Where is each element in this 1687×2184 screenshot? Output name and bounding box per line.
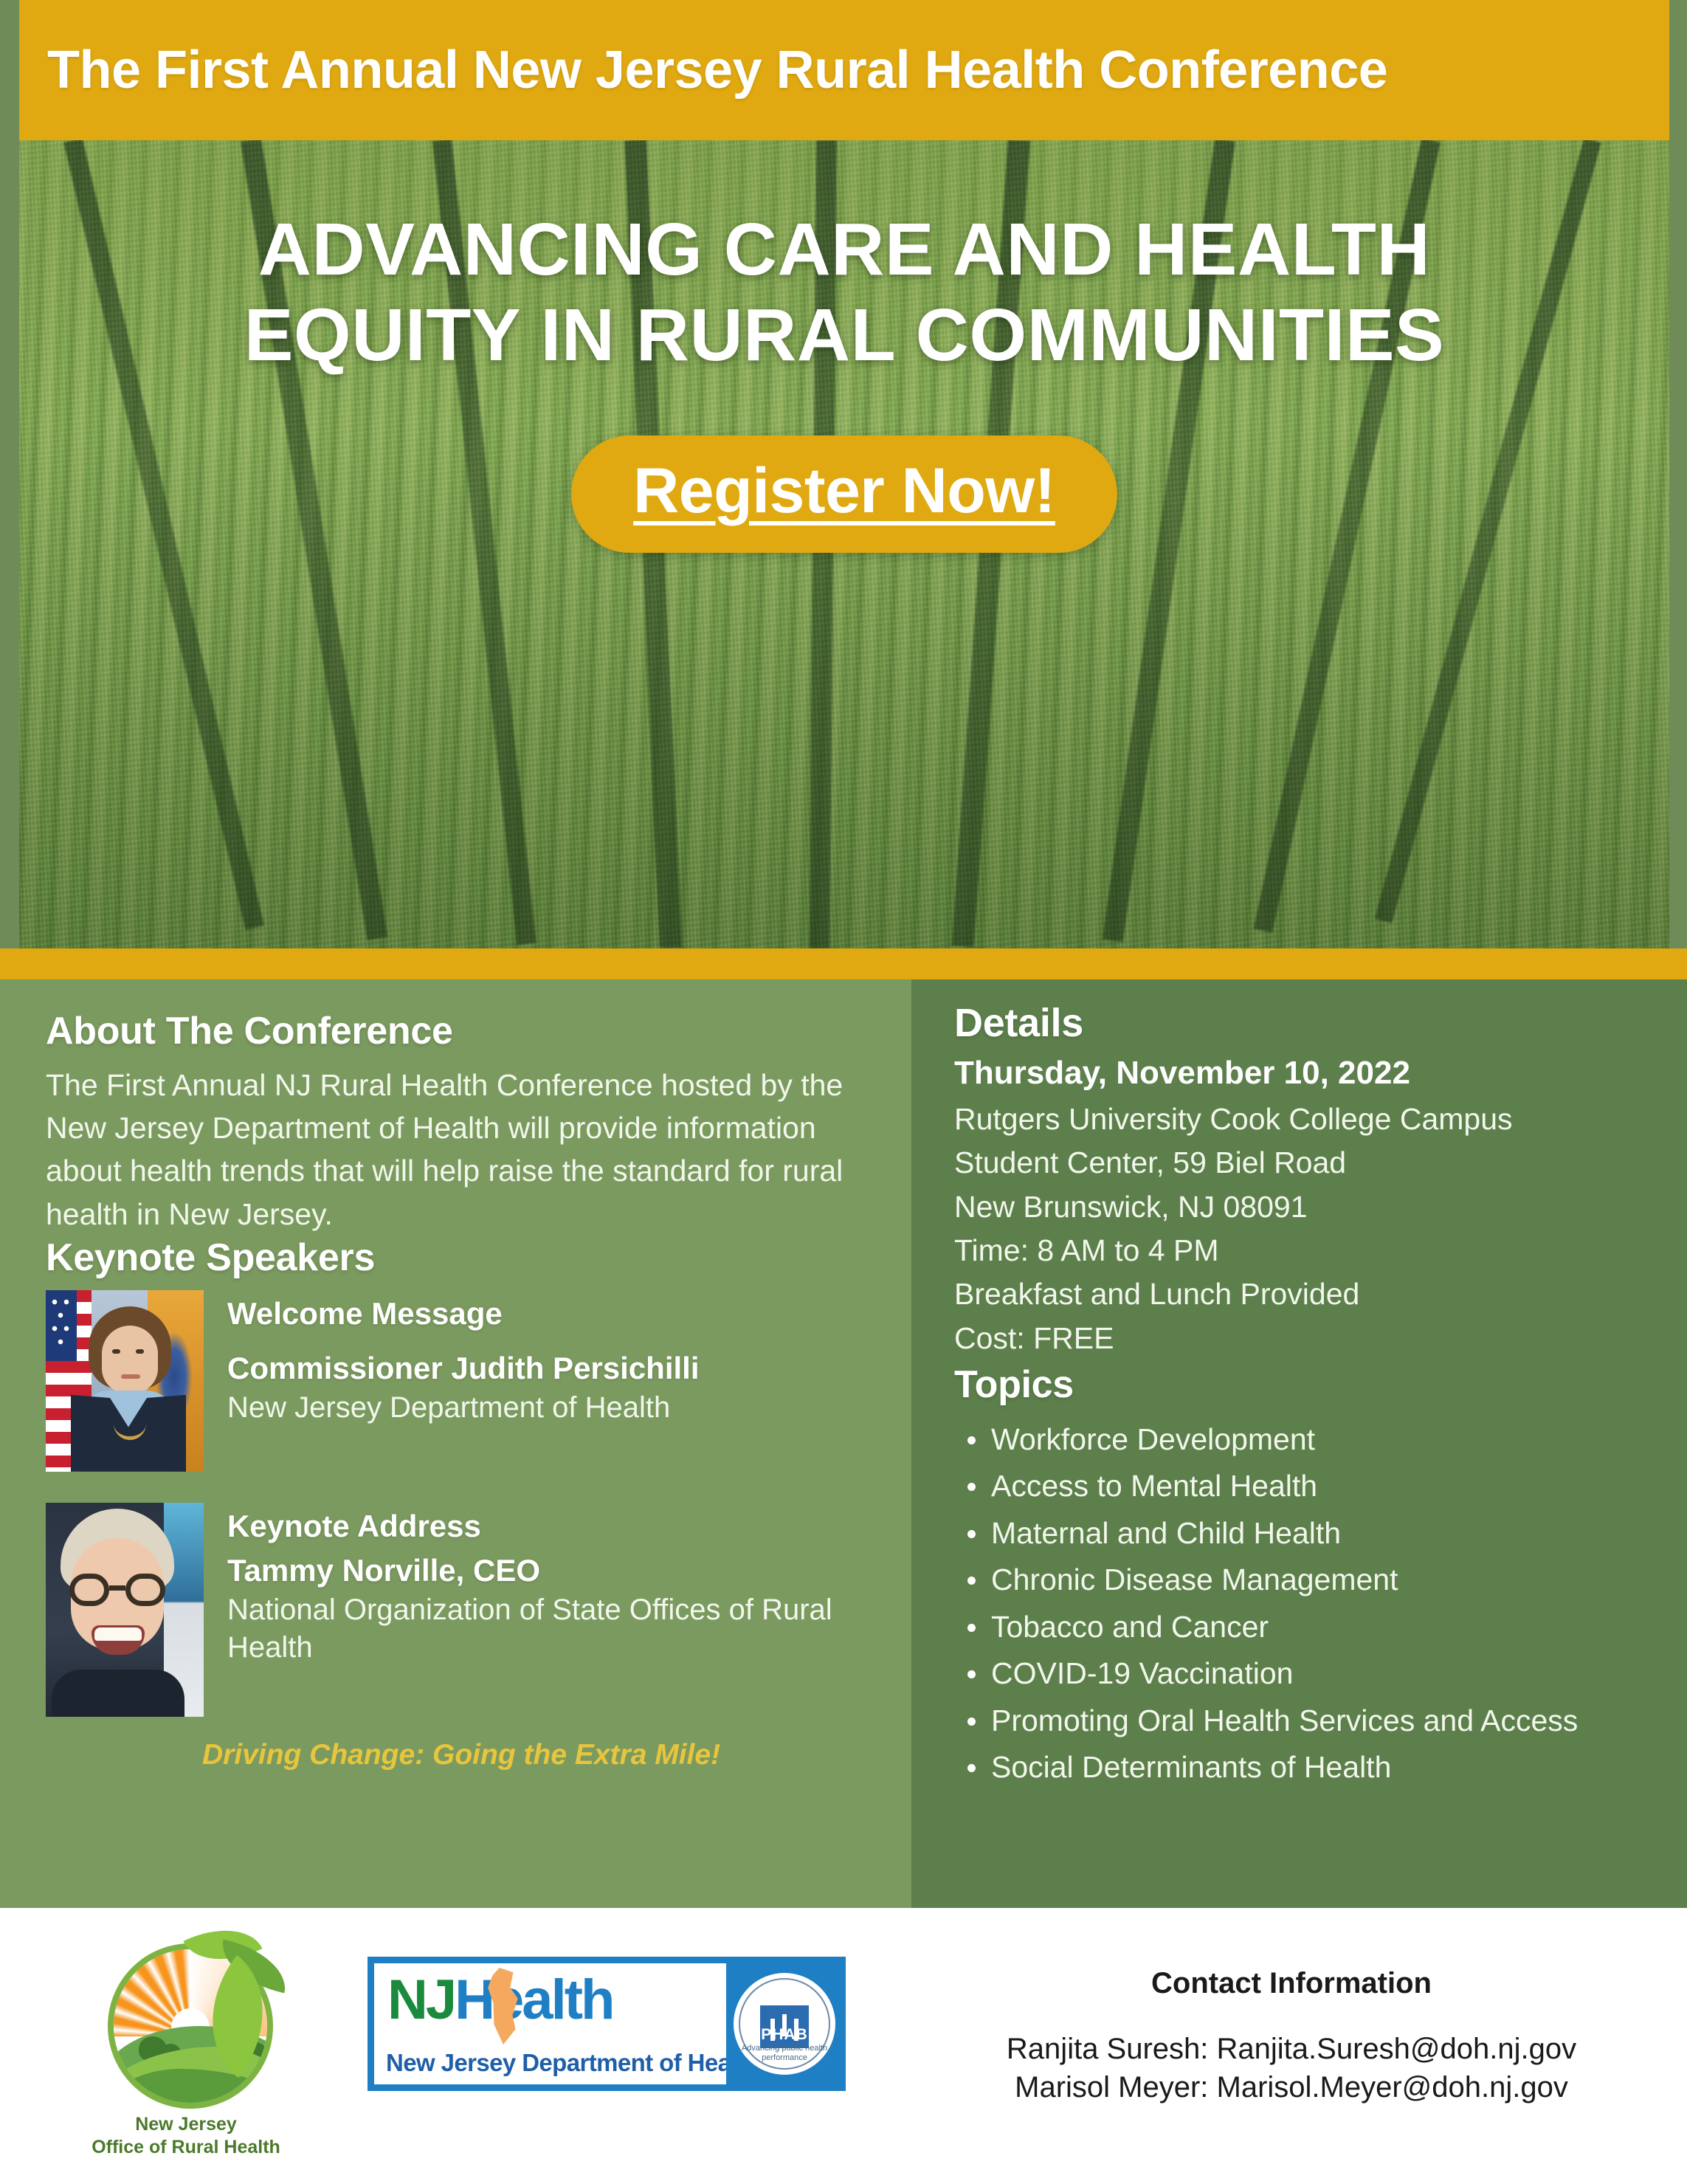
contact-email-ranjita: Ranjita Suresh: Ranjita.Suresh@doh.nj.go…: [922, 2030, 1660, 2068]
about-body-text: The First Annual NJ Rural Health Confere…: [46, 1064, 870, 1236]
keynote-speakers-heading: Keynote Speakers: [46, 1236, 870, 1280]
orh-caption-line-2: Office of Rural Health: [87, 2136, 285, 2159]
details-address: Student Center, 59 Biel Road: [954, 1143, 1657, 1182]
footer: New Jersey Office of Rural Health NJHeal…: [0, 1908, 1687, 2184]
phab-seal-subtext: Advancing public health performance: [734, 2044, 835, 2063]
details-venue: Rutgers University Cook College Campus: [954, 1100, 1657, 1139]
speaker-tagline: Driving Change: Going the Extra Mile!: [202, 1739, 870, 1771]
orh-logo-caption: New Jersey Office of Rural Health: [87, 2113, 285, 2158]
phab-seal-label: PHAB: [734, 2026, 835, 2044]
speaker-role: Keynote Address: [227, 1509, 870, 1544]
nj-office-of-rural-health-logo: New Jersey Office of Rural Health: [87, 1927, 285, 2156]
speaker-card-judith-persichilli: Welcome Message Commissioner Judith Pers…: [46, 1290, 870, 1472]
speaker-name: Tammy Norville, CEO: [227, 1553, 870, 1588]
avatar-judith-persichilli: [46, 1290, 204, 1472]
conference-flyer: The First Annual New Jersey Rural Health…: [0, 0, 1687, 2184]
headline-line-1: ADVANCING CARE AND HEALTH: [88, 207, 1601, 292]
register-button-label: Register Now!: [633, 455, 1055, 526]
details-heading: Details: [954, 1000, 1657, 1046]
contact-email-marisol: Marisol Meyer: Marisol.Meyer@doh.nj.gov: [922, 2068, 1660, 2107]
phab-accreditation-seal-icon: PHAB Advancing public health performance: [734, 1973, 835, 2075]
details-meals: Breakfast and Lunch Provided: [954, 1275, 1657, 1314]
nj-wordmark-health: Health: [455, 1968, 613, 2031]
hero-headline: ADVANCING CARE AND HEALTH EQUITY IN RURA…: [88, 207, 1601, 378]
speaker-card-tammy-norville: Keynote Address Tammy Norville, CEO Nati…: [46, 1503, 870, 1717]
topic-item: COVID-19 Vaccination: [991, 1651, 1657, 1697]
topic-item: Workforce Development: [991, 1417, 1657, 1463]
register-now-button[interactable]: Register Now!: [571, 435, 1117, 553]
about-heading: About The Conference: [46, 1009, 870, 1053]
topic-item: Promoting Oral Health Services and Acces…: [991, 1698, 1657, 1744]
contact-information-block: Contact Information Ranjita Suresh: Ranj…: [922, 1967, 1660, 2107]
glasses-icon: [68, 1574, 167, 1606]
right-content-column: Details Thursday, November 10, 2022 Rutg…: [911, 979, 1687, 1908]
speaker-name: Commissioner Judith Persichilli: [227, 1351, 700, 1386]
details-time: Time: 8 AM to 4 PM: [954, 1231, 1657, 1270]
details-cost: Cost: FREE: [954, 1319, 1657, 1358]
hero-content: ADVANCING CARE AND HEALTH EQUITY IN RURA…: [19, 207, 1669, 553]
speaker-role: Welcome Message: [227, 1296, 700, 1332]
topics-heading: Topics: [954, 1363, 1657, 1407]
contact-heading: Contact Information: [922, 1967, 1660, 2000]
topic-item: Social Determinants of Health: [991, 1745, 1657, 1791]
speaker-org: New Jersey Department of Health: [227, 1389, 700, 1427]
topic-item: Chronic Disease Management: [991, 1557, 1657, 1603]
hero-section: ADVANCING CARE AND HEALTH EQUITY IN RURA…: [19, 140, 1669, 948]
title-banner: The First Annual New Jersey Rural Health…: [19, 0, 1669, 140]
avatar-tammy-norville: [46, 1503, 204, 1717]
speaker-org: National Organization of State Offices o…: [227, 1591, 870, 1667]
topics-list: Workforce Development Access to Mental H…: [954, 1417, 1657, 1791]
orh-caption-line-1: New Jersey: [87, 2113, 285, 2136]
headline-line-2: EQUITY IN RURAL COMMUNITIES: [88, 292, 1601, 378]
gold-divider: [0, 948, 1687, 979]
nj-wordmark-nj: NJ: [387, 1968, 455, 2031]
nj-health-logo: NJHealth New Jersey Department of Health…: [368, 1957, 846, 2091]
details-city: New Brunswick, NJ 08091: [954, 1188, 1657, 1227]
topic-item: Tobacco and Cancer: [991, 1605, 1657, 1650]
topic-item: Access to Mental Health: [991, 1464, 1657, 1509]
details-date: Thursday, November 10, 2022: [954, 1052, 1657, 1094]
nj-health-subtitle: New Jersey Department of Health: [386, 2049, 759, 2077]
topic-item: Maternal and Child Health: [991, 1511, 1657, 1557]
left-content-column: About The Conference The First Annual NJ…: [0, 979, 911, 1908]
page-title: The First Annual New Jersey Rural Health…: [47, 40, 1387, 100]
